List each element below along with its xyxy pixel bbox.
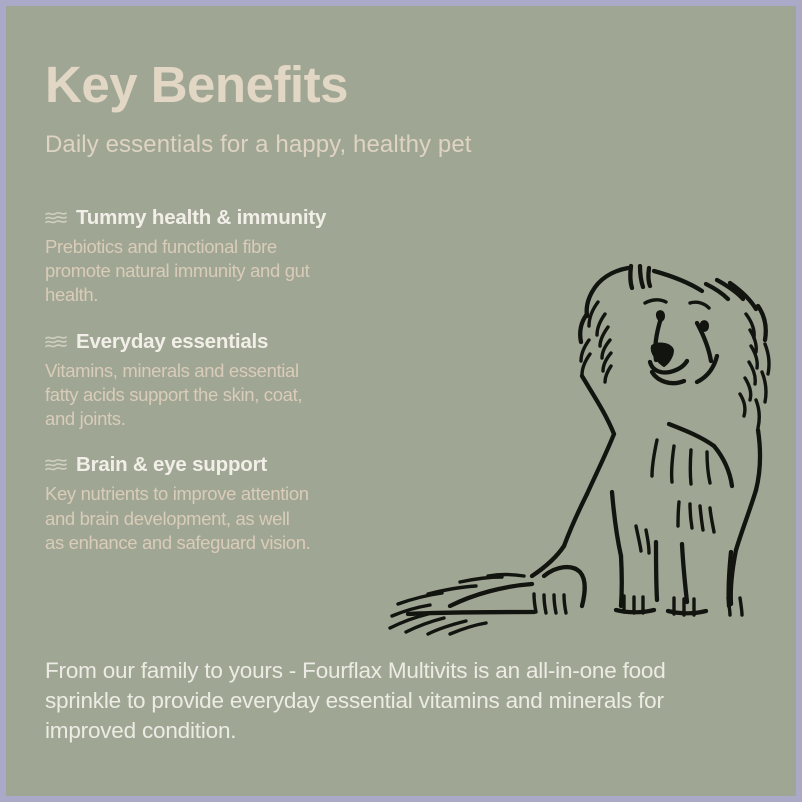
benefit-item-tummy-health: Tummy health & immunity Prebiotics and f… <box>45 206 397 308</box>
header: Key Benefits Daily essentials for a happ… <box>45 58 685 159</box>
benefit-description: Prebiotics and functional fibre promote … <box>45 235 397 308</box>
benefits-list: Tummy health & immunity Prebiotics and f… <box>45 206 397 577</box>
key-benefits-card: Key Benefits Daily essentials for a happ… <box>0 0 802 802</box>
benefit-description: Vitamins, minerals and essential fatty a… <box>45 359 397 432</box>
wave-icon <box>45 334 67 350</box>
benefit-heading: Everyday essentials <box>45 330 397 354</box>
page-subtitle: Daily essentials for a happy, healthy pe… <box>45 131 685 160</box>
wave-icon <box>45 457 67 473</box>
wave-icon <box>45 210 67 226</box>
benefit-title: Brain & eye support <box>76 453 267 477</box>
benefit-item-everyday-essentials: Everyday essentials Vitamins, minerals a… <box>45 330 397 432</box>
page-title: Key Benefits <box>45 58 685 112</box>
benefit-description: Key nutrients to improve attention and b… <box>45 482 397 555</box>
benefit-item-brain-eye-support: Brain & eye support Key nutrients to imp… <box>45 453 397 555</box>
footer-note: From our family to yours - Fourflax Mult… <box>45 656 767 746</box>
benefit-title: Tummy health & immunity <box>76 206 326 230</box>
benefit-title: Everyday essentials <box>76 330 268 354</box>
benefit-heading: Tummy health & immunity <box>45 206 397 230</box>
sitting-dog-illustration <box>384 254 790 638</box>
benefit-heading: Brain & eye support <box>45 453 397 477</box>
